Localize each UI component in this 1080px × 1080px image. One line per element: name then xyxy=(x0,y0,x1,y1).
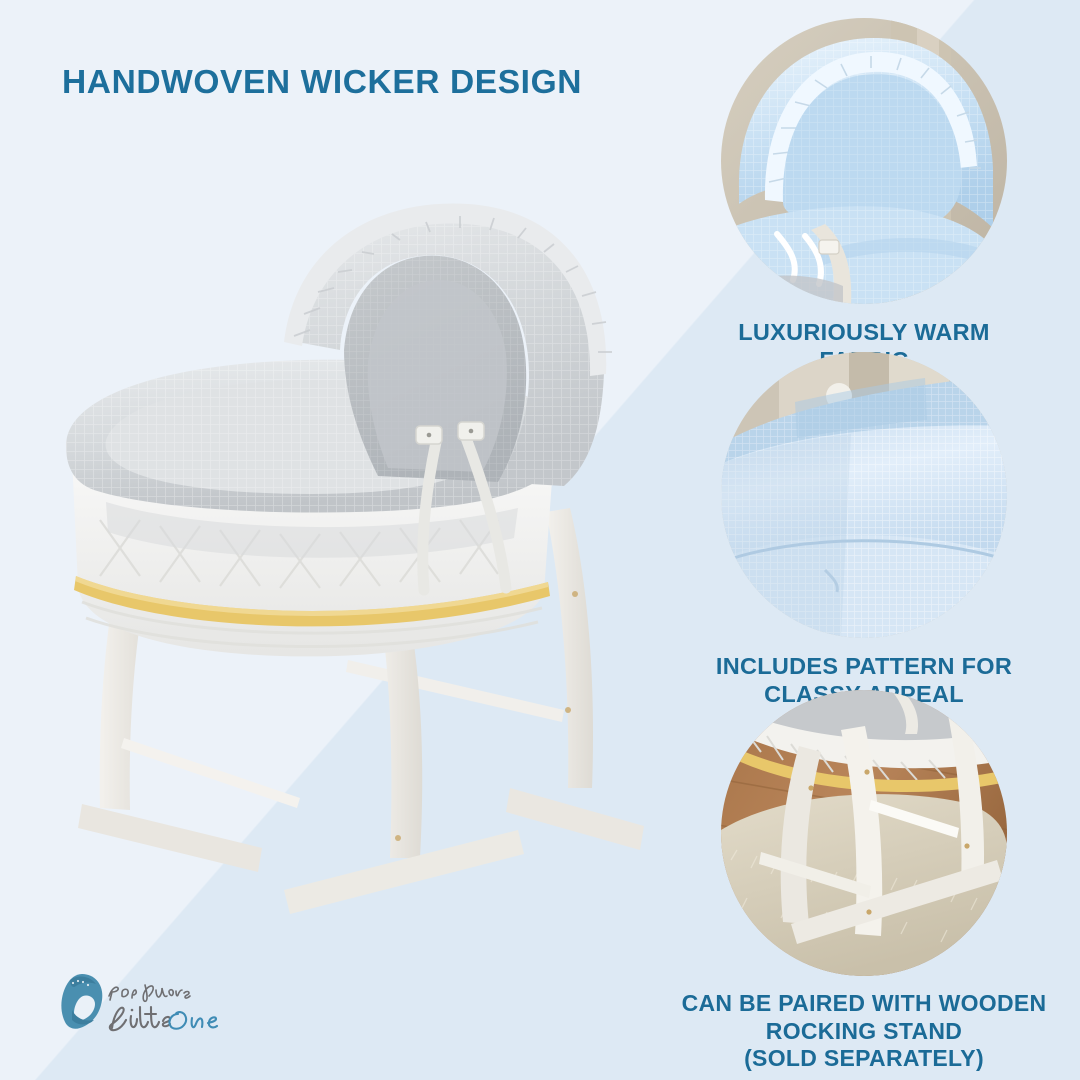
feature-item-2: INCLUDES PATTERN FOR CLASSY APPEAL xyxy=(648,352,1080,708)
feature-caption-3: CAN BE PAIRED WITH WOODEN ROCKING STAND … xyxy=(648,990,1080,1073)
brand-line-2-one xyxy=(169,1012,217,1029)
feature-item-1: LUXURIOUSLY WARM FABRIC xyxy=(648,18,1080,374)
brand-line-2-little xyxy=(110,1007,170,1030)
brand-logo xyxy=(52,966,242,1044)
feature-photo-rocking-stand xyxy=(721,690,1007,976)
brand-line-1 xyxy=(109,985,190,1001)
feature-photo-luxuriously-warm-fabric xyxy=(721,18,1007,304)
feature-column: LUXURIOUSLY WARM FABRIC xyxy=(648,0,1080,1080)
product-infographic: HANDWOVEN WICKER DESIGN xyxy=(0,0,1080,1080)
feature-item-3: CAN BE PAIRED WITH WOODEN ROCKING STAND … xyxy=(648,690,1080,1073)
feature-photo-includes-pattern xyxy=(721,352,1007,638)
page-title: HANDWOVEN WICKER DESIGN xyxy=(62,64,662,103)
mother-and-baby-icon xyxy=(61,974,102,1029)
hero-product-image xyxy=(48,190,648,980)
